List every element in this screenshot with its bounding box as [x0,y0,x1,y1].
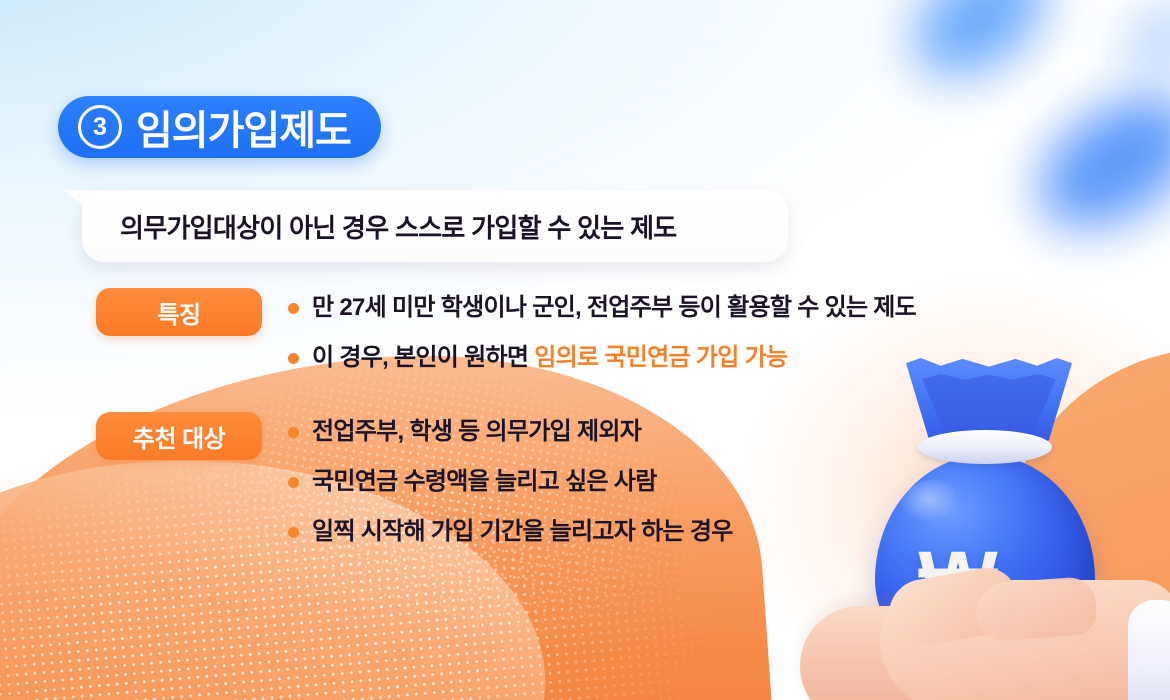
bullet-dot-icon [288,477,299,488]
recommended-bullet-list: 전업주부, 학생 등 의무가입 제외자 국민연금 수령액을 늘리고 싶은 사람 … [288,412,733,562]
subtitle-text: 의무가입대상이 아닌 경우 스스로 가입할 수 있는 제도 [82,208,677,245]
badge-features: 특징 [96,288,262,336]
infographic-slide: ₩ 3 임의가입제도 의무가입대상이 아닌 경우 스스로 가입할 수 있는 제도… [0,0,1170,700]
features-bullet-list: 만 27세 미만 학생이나 군인, 전업주부 등이 활용할 수 있는 제도 이 … [288,288,916,388]
section-features: 특징 만 27세 미만 학생이나 군인, 전업주부 등이 활용할 수 있는 제도… [96,288,916,388]
list-item-text: 전업주부, 학생 등 의무가입 제외자 [312,412,641,452]
list-item-text: 일찍 시작해 가입 기간을 늘리고자 하는 경우 [312,512,733,552]
bullet-dot-icon [288,527,299,538]
bullet-dot-icon [288,427,299,438]
bag-highlight [900,480,970,534]
list-item: 이 경우, 본인이 원하면 임의로 국민연금 가입 가능 [288,338,916,388]
list-item-text: 국민연금 수령액을 늘리고 싶은 사람 [312,462,657,502]
list-item: 국민연금 수령액을 늘리고 싶은 사람 [288,462,733,512]
page-title: 임의가입제도 [136,98,351,156]
list-item: 일찍 시작해 가입 기간을 늘리고자 하는 경우 [288,512,733,562]
list-item-text: 만 27세 미만 학생이나 군인, 전업주부 등이 활용할 수 있는 제도 [312,288,916,328]
section-number-badge: 3 [78,105,122,149]
section-recommended: 추천 대상 전업주부, 학생 등 의무가입 제외자 국민연금 수령액을 늘리고 … [96,412,733,562]
bullet-dot-icon [288,303,299,314]
sleeve-cuff [1128,600,1170,700]
badge-recommended: 추천 대상 [96,412,262,460]
hand-finger-back [974,576,1098,642]
list-item: 전업주부, 학생 등 의무가입 제외자 [288,412,733,462]
section-title-pill: 3 임의가입제도 [58,96,381,158]
bullet-dot-icon [288,353,299,364]
bag-tie-band [918,430,1052,464]
list-item-text: 이 경우, 본인이 원하면 임의로 국민연금 가입 가능 [312,338,787,378]
list-item-highlight: 임의로 국민연금 가입 가능 [534,344,787,371]
list-item: 만 27세 미만 학생이나 군인, 전업주부 등이 활용할 수 있는 제도 [288,288,916,338]
subtitle-card: 의무가입대상이 아닌 경우 스스로 가입할 수 있는 제도 [82,190,788,262]
